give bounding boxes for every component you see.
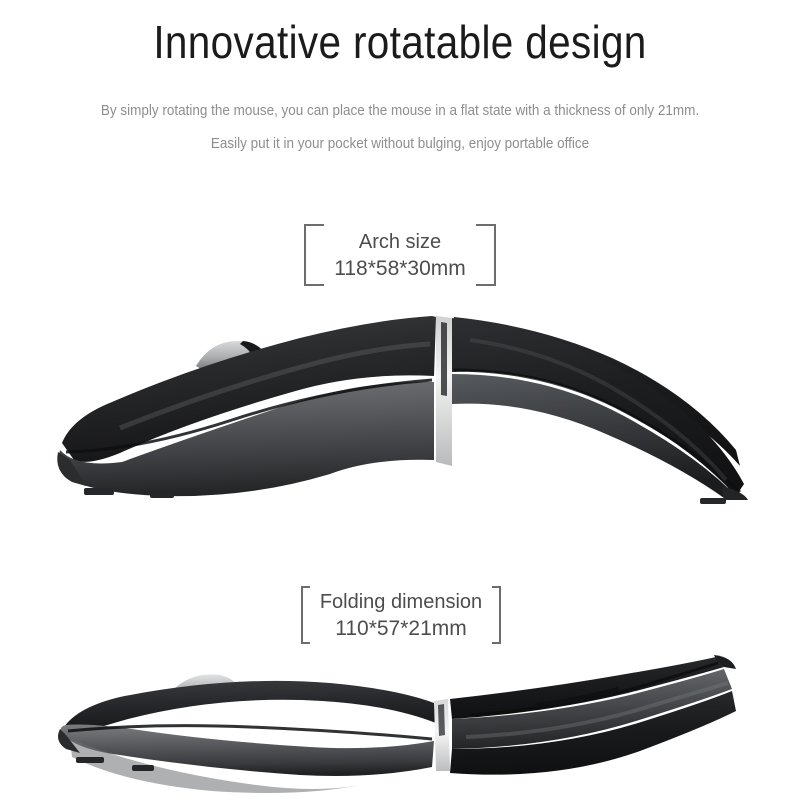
- subtitle-line-1: By simply rotating the mouse, you can pl…: [28, 101, 772, 121]
- arched-foot-left-1: [84, 488, 114, 495]
- callout-folding-dimension: Folding dimension 110*57*21mm: [301, 586, 501, 644]
- callout-arch-dimensions: 118*58*30mm: [334, 255, 466, 282]
- arched-foot-left-2: [150, 492, 174, 498]
- product-image-folded-mouse: [0, 645, 800, 800]
- callout-folding-dimensions: 110*57*21mm: [320, 615, 482, 642]
- subtitle-line-2: Easily put it in your pocket without bul…: [28, 134, 772, 154]
- product-image-arched-mouse: [0, 300, 800, 515]
- bracket-right-icon: [492, 586, 501, 644]
- callout-folding-text: Folding dimension 110*57*21mm: [310, 589, 492, 642]
- flat-foot-left-1: [76, 757, 104, 763]
- flat-foot-left-2: [132, 765, 154, 771]
- bracket-left-icon: [301, 586, 310, 644]
- callout-arch-text: Arch size 118*58*30mm: [324, 229, 476, 282]
- page-title: Innovative rotatable design: [48, 14, 752, 70]
- bracket-left-icon: [304, 224, 324, 286]
- hinge-shadow: [438, 704, 445, 736]
- bracket-right-icon: [476, 224, 496, 286]
- callout-arch-size: Arch size 118*58*30mm: [296, 224, 504, 286]
- callout-folding-label: Folding dimension: [320, 589, 482, 615]
- product-feature-page: Innovative rotatable design By simply ro…: [0, 0, 800, 800]
- arched-foot-right: [700, 498, 726, 504]
- callout-arch-label: Arch size: [334, 229, 466, 255]
- hinge-shadow: [441, 322, 447, 396]
